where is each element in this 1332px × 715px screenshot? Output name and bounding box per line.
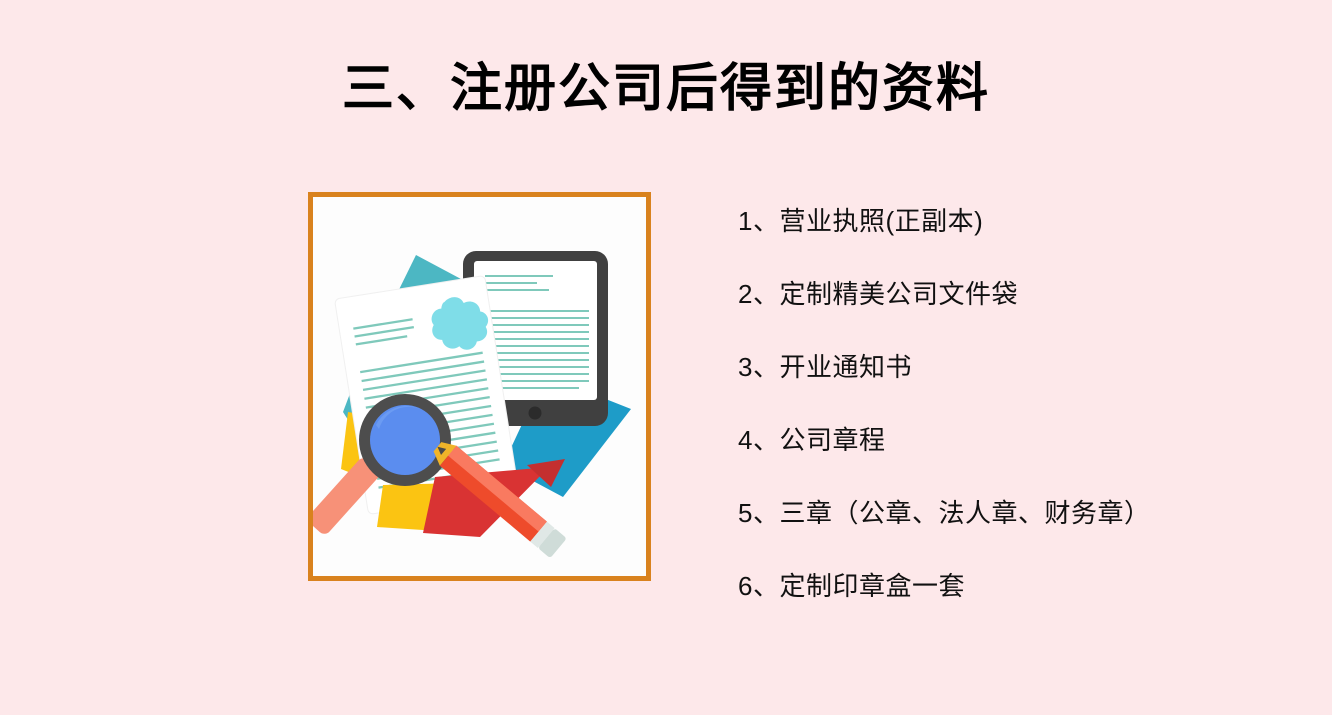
list-item: 1、营业执照(正副本)	[738, 204, 1298, 239]
list-item: 5、三章（公章、法人章、财务章）	[738, 496, 1298, 531]
list-item: 4、公司章程	[738, 423, 1298, 458]
illustration-frame	[308, 192, 651, 581]
deliverables-list: 1、营业执照(正副本) 2、定制精美公司文件袋 3、开业通知书 4、公司章程 5…	[738, 204, 1298, 605]
illustration-canvas	[313, 197, 646, 576]
list-item: 3、开业通知书	[738, 350, 1298, 385]
list-item: 6、定制印章盒一套	[738, 569, 1298, 604]
list-item: 2、定制精美公司文件袋	[738, 277, 1298, 312]
page-title: 三、注册公司后得到的资料	[0, 58, 1332, 120]
documents-tablet-magnifier-pencil-icon	[313, 197, 646, 576]
